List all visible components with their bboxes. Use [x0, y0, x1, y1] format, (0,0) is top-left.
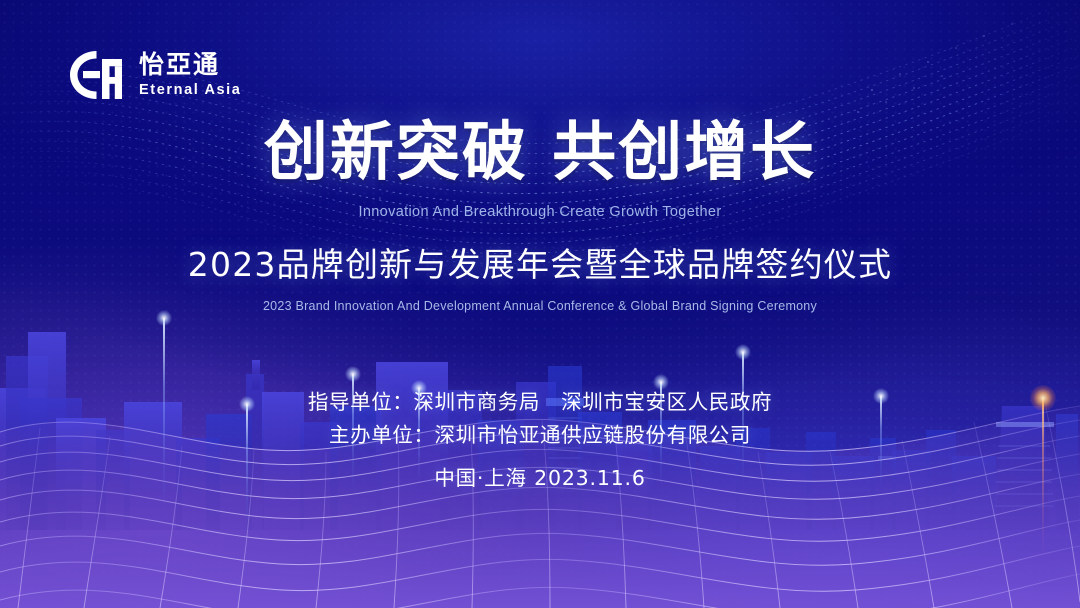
logo-name-en: Eternal Asia [139, 83, 241, 98]
logo-name-cn: 怡亞通 [139, 52, 241, 77]
conference-name: 2023品牌创新与发展年会暨全球品牌签约仪式 [0, 238, 1080, 286]
headline-block: 创新突破 共创增长 Innovation And Breakthrough Cr… [0, 118, 1080, 313]
guidance-unit-line: 指导单位：深圳市商务局 深圳市宝安区人民政府 [0, 386, 1080, 419]
brand-logo: 怡亞通 Eternal Asia [66, 50, 241, 100]
conference-banner: 怡亞通 Eternal Asia 创新突破 共创增长 Innovation An… [0, 0, 1080, 608]
venue-date-line: 中国·上海 2023.11.6 [0, 461, 1080, 491]
page-title: 创新突破 共创增长 [0, 118, 1080, 190]
page-title-english: Innovation And Breakthrough Create Growt… [0, 204, 1080, 220]
ea-monogram-icon [66, 50, 126, 100]
host-unit-line: 主办单位：深圳市怡亚通供应链股份有限公司 [0, 419, 1080, 452]
conference-name-english: 2023 Brand Innovation And Development An… [0, 299, 1080, 313]
logo-wordmark: 怡亞通 Eternal Asia [139, 52, 241, 98]
organizer-block: 指导单位：深圳市商务局 深圳市宝安区人民政府 主办单位：深圳市怡亚通供应链股份有… [0, 386, 1080, 491]
